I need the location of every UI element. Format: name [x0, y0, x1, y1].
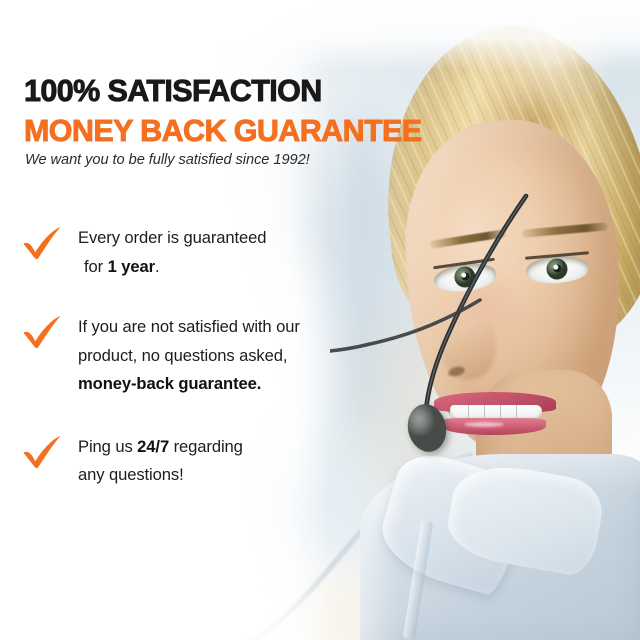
list-item-text: Ping us 24/7 regarding any questions! — [64, 433, 243, 490]
bullet-1-line-2-prefix: for — [78, 257, 108, 276]
headline-line-2: MONEY BACK GUARANTEE — [24, 116, 422, 147]
list-item: If you are not satisfied with our produc… — [20, 313, 420, 399]
bullet-1-line-1: Every order is guaranteed — [78, 228, 266, 247]
bullet-2-line-2: product, no questions asked, — [78, 346, 287, 365]
list-item-text: If you are not satisfied with our produc… — [64, 313, 300, 399]
headline-line-1: 100% SATISFACTION — [24, 76, 422, 107]
subtitle: We want you to be fully satisfied since … — [25, 152, 310, 168]
guarantee-bullet-list: Every order is guaranteed for 1 year. If… — [20, 224, 420, 490]
bullet-2-line-1: If you are not satisfied with our — [78, 317, 300, 336]
orange-check-icon — [20, 315, 64, 349]
bullet-1-emphasis: 1 year — [108, 257, 155, 276]
list-item: Every order is guaranteed for 1 year. — [20, 224, 420, 281]
headline: 100% SATISFACTION MONEY BACK GUARANTEE — [24, 76, 422, 146]
bullet-3-line-2: any questions! — [78, 465, 184, 484]
bullet-3-emphasis: 24/7 — [137, 437, 169, 456]
orange-check-icon — [20, 226, 64, 260]
bullet-1-line-2-suffix: . — [155, 257, 160, 276]
bullet-3-line-1-suffix: regarding — [169, 437, 243, 456]
list-item-text: Every order is guaranteed for 1 year. — [64, 224, 266, 281]
list-item: Ping us 24/7 regarding any questions! — [20, 433, 420, 490]
money-back-guarantee-banner: 100% SATISFACTION MONEY BACK GUARANTEE W… — [0, 0, 640, 640]
bullet-3-line-1-prefix: Ping us — [78, 437, 137, 456]
banner-content: 100% SATISFACTION MONEY BACK GUARANTEE W… — [0, 0, 640, 640]
orange-check-icon — [20, 435, 64, 469]
bullet-2-emphasis: money-back guarantee. — [78, 374, 261, 393]
